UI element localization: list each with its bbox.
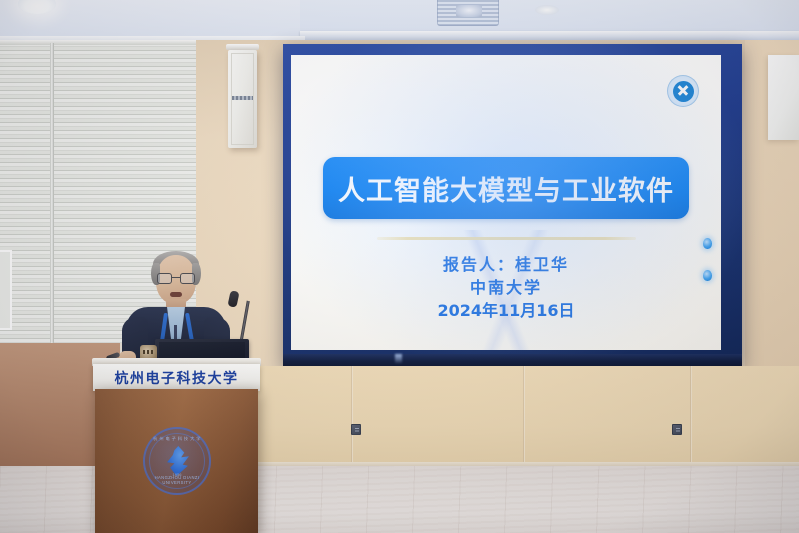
right-wall-panel xyxy=(768,55,799,140)
university-logo-icon xyxy=(667,75,699,107)
slide-title-banner: 人工智能大模型与工业软件 xyxy=(323,157,689,219)
presentation-display: 人工智能大模型与工业软件 报告人：桂卫华 中南大学 2024年11月16日 xyxy=(283,44,742,366)
wall-panel-seam xyxy=(351,366,353,476)
ceiling-air-vent-icon xyxy=(437,0,499,26)
podium-university-emblem-icon: 杭 州 电 子 科 技 大 学 1956 HANGZHOU DIANZI UNI… xyxy=(143,427,211,495)
slide-title: 人工智能大模型与工业软件 xyxy=(338,169,674,208)
emblem-arc-top-text: 杭 州 电 子 科 技 大 学 xyxy=(145,436,209,442)
blinds-head-rail xyxy=(0,40,196,45)
ceiling-fixture-icon xyxy=(535,5,559,15)
presentation-photo-scene: 人工智能大模型与工业软件 报告人：桂卫华 中南大学 2024年11月16日 xyxy=(0,0,799,533)
display-bezel-glint xyxy=(395,354,402,364)
wall-outlet[interactable] xyxy=(672,424,682,435)
presentation-date: 2024年11月16日 xyxy=(291,299,721,322)
slide-decor-dot-1 xyxy=(703,238,712,249)
wall-panel-seam xyxy=(690,366,692,476)
emblem-arc-bottom-text: HANGZHOU DIANZI UNIVERSITY xyxy=(145,475,209,485)
wall-speaker-label xyxy=(232,96,253,100)
slide-decor-dot-2 xyxy=(703,270,712,281)
presenter-affiliation: 中南大学 xyxy=(291,276,721,299)
person-mouth xyxy=(170,292,182,297)
podium-sign-text: 杭州电子科技大学 xyxy=(115,368,239,388)
display-bottom-bezel xyxy=(283,354,742,366)
blinds-seam xyxy=(50,43,54,343)
ceiling-molding-right xyxy=(300,31,799,40)
wall-speaker xyxy=(228,50,257,148)
wall-panel-seam xyxy=(523,366,525,476)
slide-divider-rule xyxy=(377,237,636,240)
person-glasses xyxy=(157,273,195,284)
wall-frame xyxy=(0,250,12,330)
wall-outlet[interactable] xyxy=(351,424,361,435)
slide-presenter-block: 报告人：桂卫华 中南大学 2024年11月16日 xyxy=(291,253,721,322)
presenter-name: 报告人：桂卫华 xyxy=(291,253,721,276)
podium-sign: 杭州电子科技大学 xyxy=(93,364,260,391)
slide-surface: 人工智能大模型与工业软件 报告人：桂卫华 中南大学 2024年11月16日 xyxy=(291,55,721,350)
